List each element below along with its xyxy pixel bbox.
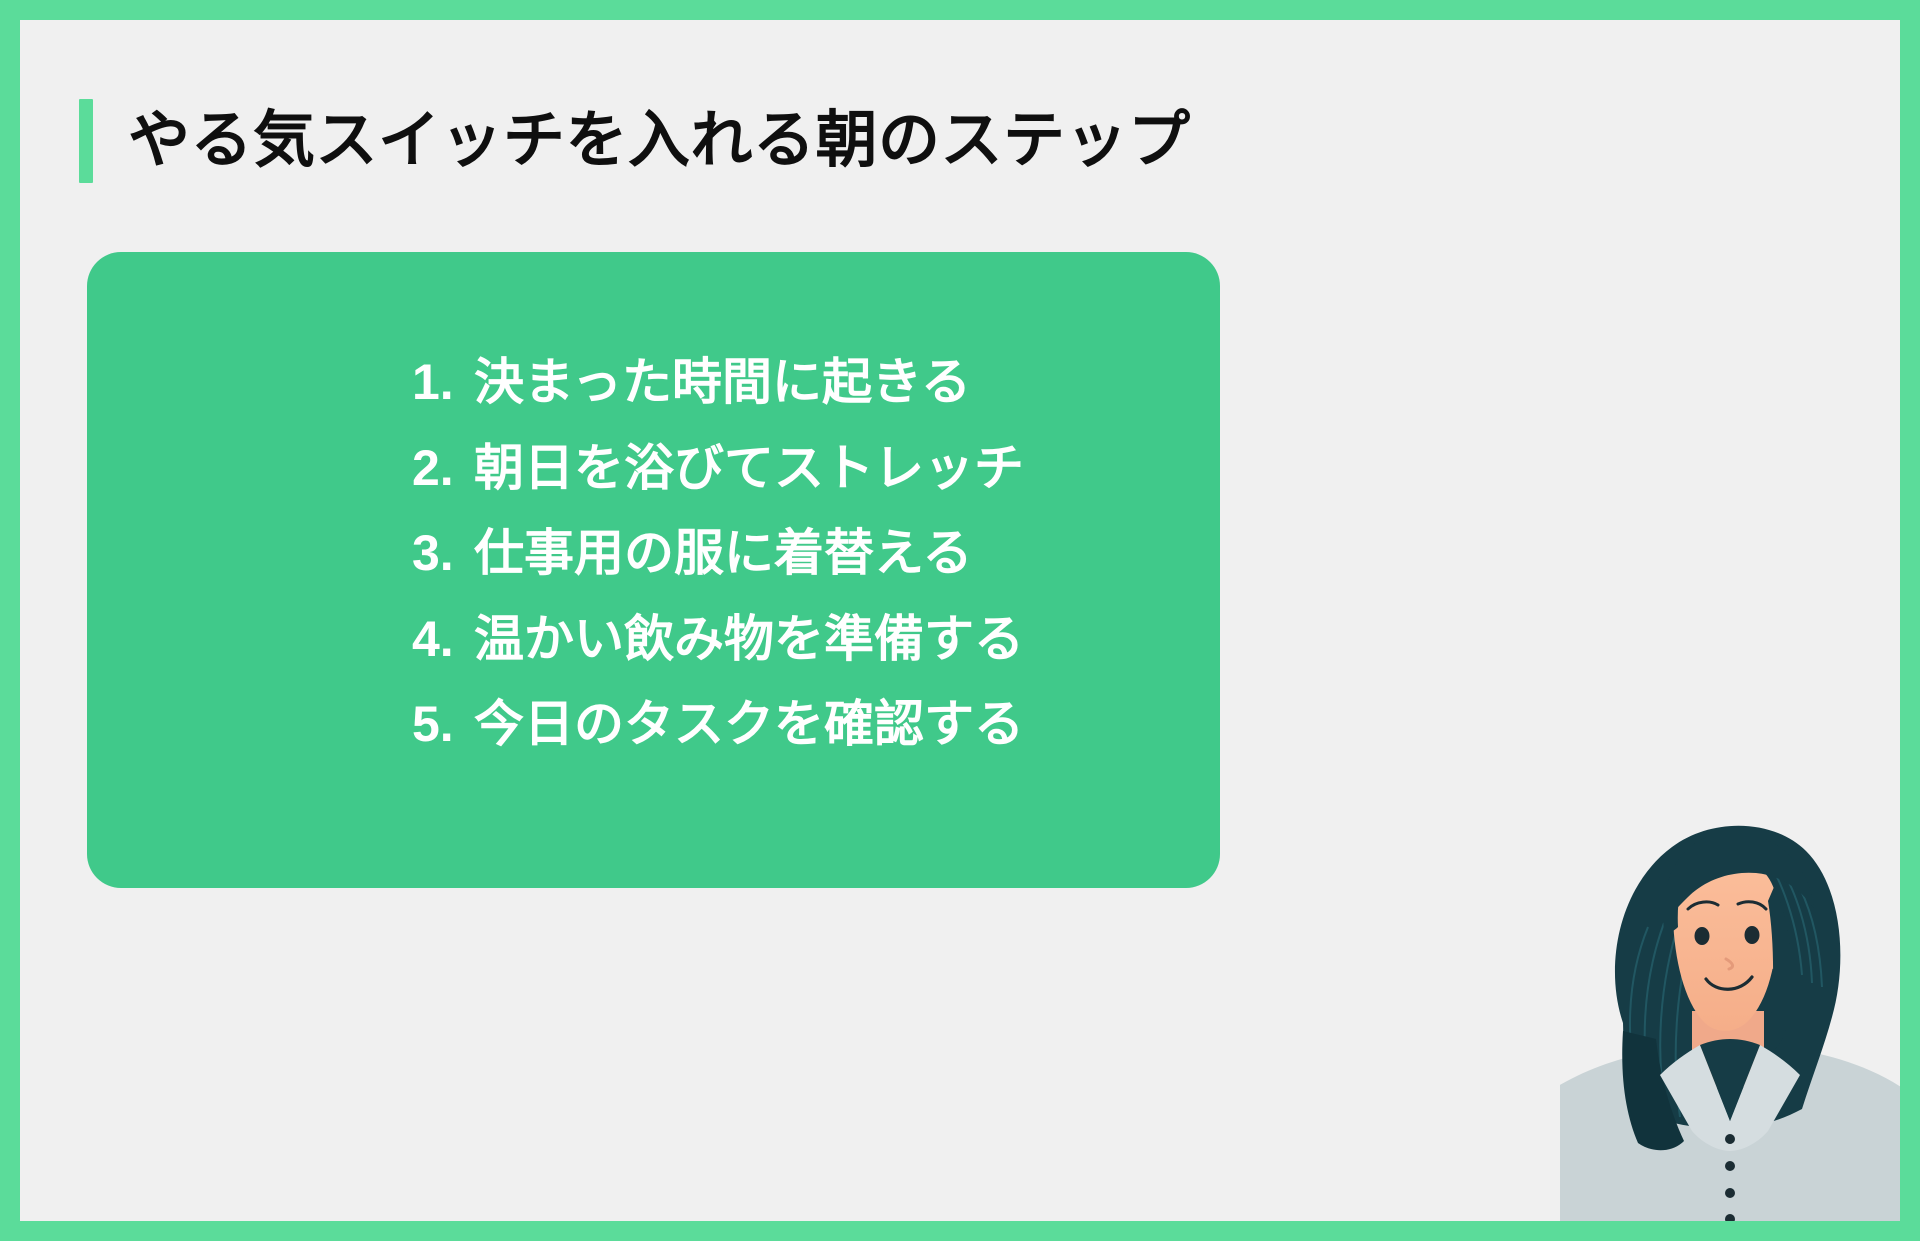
step-label: 決まった時間に起きる xyxy=(474,356,971,409)
shirt-button xyxy=(1725,1188,1735,1198)
smiling-woman-illustration xyxy=(1560,791,1900,1221)
steps-card: 1. 決まった時間に起きる 2. 朝日を浴びてストレッチ 3. 仕事用の服に着替… xyxy=(87,252,1220,888)
title-accent-bar xyxy=(79,99,93,183)
step-label: 仕事用の服に着替える xyxy=(474,527,973,580)
slide-frame: やる気スイッチを入れる朝のステップ 1. 決まった時間に起きる 2. 朝日を浴び… xyxy=(20,20,1900,1221)
shirt-button xyxy=(1725,1134,1735,1144)
list-item: 3. 仕事用の服に着替える xyxy=(412,527,973,580)
list-item: 5. 今日のタスクを確認する xyxy=(412,698,1024,751)
step-label: 今日のタスクを確認する xyxy=(474,698,1024,751)
page-title-text: やる気スイッチを入れる朝のステップ xyxy=(128,110,1191,172)
page-title: やる気スイッチを入れる朝のステップ xyxy=(79,99,1191,183)
woman-portrait-icon xyxy=(1560,791,1900,1221)
step-number: 2. xyxy=(412,442,474,495)
steps-list: 1. 決まった時間に起きる 2. 朝日を浴びてストレッチ 3. 仕事用の服に着替… xyxy=(87,356,1220,751)
list-item: 1. 決まった時間に起きる xyxy=(412,356,971,409)
step-number: 3. xyxy=(412,527,474,580)
step-label: 朝日を浴びてストレッチ xyxy=(474,442,1024,495)
shirt-button xyxy=(1725,1161,1735,1171)
step-number: 1. xyxy=(412,356,474,409)
list-item: 4. 温かい飲み物を準備する xyxy=(412,613,1024,666)
eye-right xyxy=(1745,926,1760,944)
step-number: 4. xyxy=(412,613,474,666)
list-item: 2. 朝日を浴びてストレッチ xyxy=(412,442,1024,495)
step-label: 温かい飲み物を準備する xyxy=(474,613,1024,666)
step-number: 5. xyxy=(412,698,474,751)
eye-left xyxy=(1695,927,1710,945)
